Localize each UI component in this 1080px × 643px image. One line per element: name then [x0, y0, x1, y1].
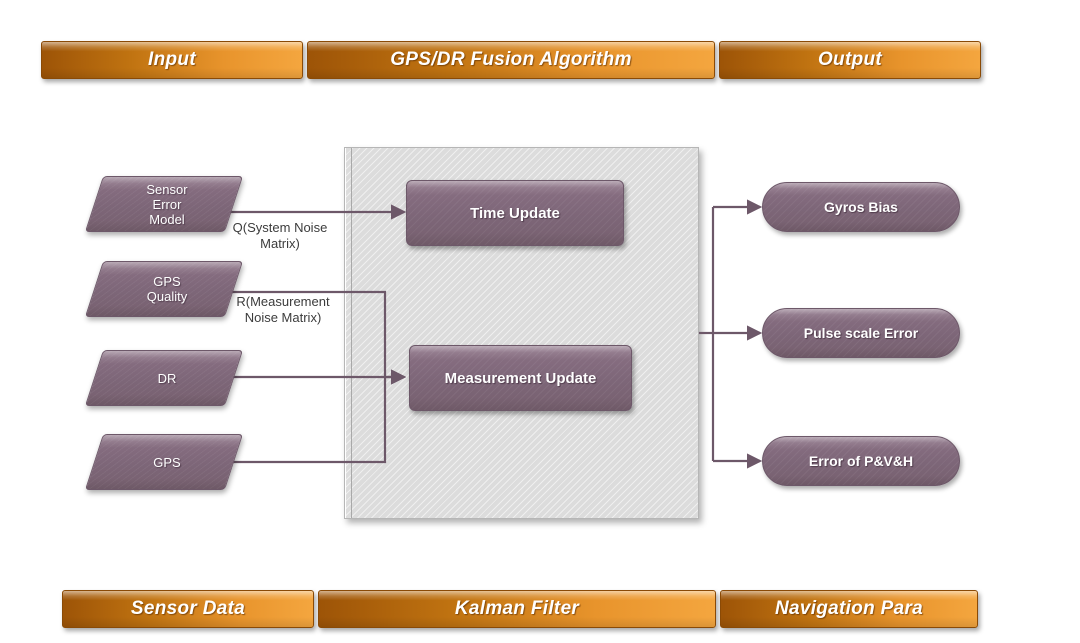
input-node-sensor-error-model-label: Sensor Error Model	[94, 176, 234, 232]
top-banner-fusion-algorithm: GPS/DR Fusion Algorithm	[307, 41, 715, 79]
input-node-gps-label: GPS	[94, 434, 234, 490]
input-node-gps-quality-label: GPS Quality	[94, 261, 234, 317]
bottom-banner-navigation-para-label: Navigation Para	[775, 598, 923, 620]
process-box-time-update-label: Time Update	[470, 205, 560, 222]
top-banner-fusion-algorithm-label: GPS/DR Fusion Algorithm	[390, 49, 632, 71]
edge-label-system-noise-matrix: Q(System Noise Matrix)	[215, 220, 345, 252]
input-node-gps[interactable]: GPS	[94, 434, 234, 490]
bottom-banner-sensor-data-label: Sensor Data	[131, 598, 245, 620]
process-box-measurement-update[interactable]: Measurement Update	[409, 345, 632, 411]
output-node-pulse-scale-error-label: Pulse scale Error	[804, 325, 918, 341]
edge-label-measurement-noise-matrix: R(Measurement Noise Matrix)	[218, 294, 348, 326]
diagram-canvas: Input GPS/DR Fusion Algorithm Output	[0, 0, 1080, 643]
output-node-gyros-bias-label: Gyros Bias	[824, 199, 898, 215]
bottom-banner-kalman-filter: Kalman Filter	[318, 590, 716, 628]
top-banner-output-label: Output	[818, 49, 882, 71]
input-node-sensor-error-model[interactable]: Sensor Error Model	[94, 176, 234, 232]
input-node-dr[interactable]: DR	[94, 350, 234, 406]
input-node-gps-quality[interactable]: GPS Quality	[94, 261, 234, 317]
top-banner-output: Output	[719, 41, 981, 79]
bottom-banner-sensor-data: Sensor Data	[62, 590, 314, 628]
bottom-banner-kalman-filter-label: Kalman Filter	[455, 598, 579, 620]
process-box-time-update[interactable]: Time Update	[406, 180, 624, 246]
bottom-banner-navigation-para: Navigation Para	[720, 590, 978, 628]
output-node-error-of-pvh-label: Error of P&V&H	[809, 453, 913, 469]
top-banner-input: Input	[41, 41, 303, 79]
output-node-pulse-scale-error[interactable]: Pulse scale Error	[762, 308, 960, 358]
top-banner-input-label: Input	[148, 49, 196, 71]
input-node-dr-label: DR	[94, 350, 234, 406]
output-node-gyros-bias[interactable]: Gyros Bias	[762, 182, 960, 232]
output-node-error-of-pvh[interactable]: Error of P&V&H	[762, 436, 960, 486]
process-box-measurement-update-label: Measurement Update	[445, 370, 597, 387]
